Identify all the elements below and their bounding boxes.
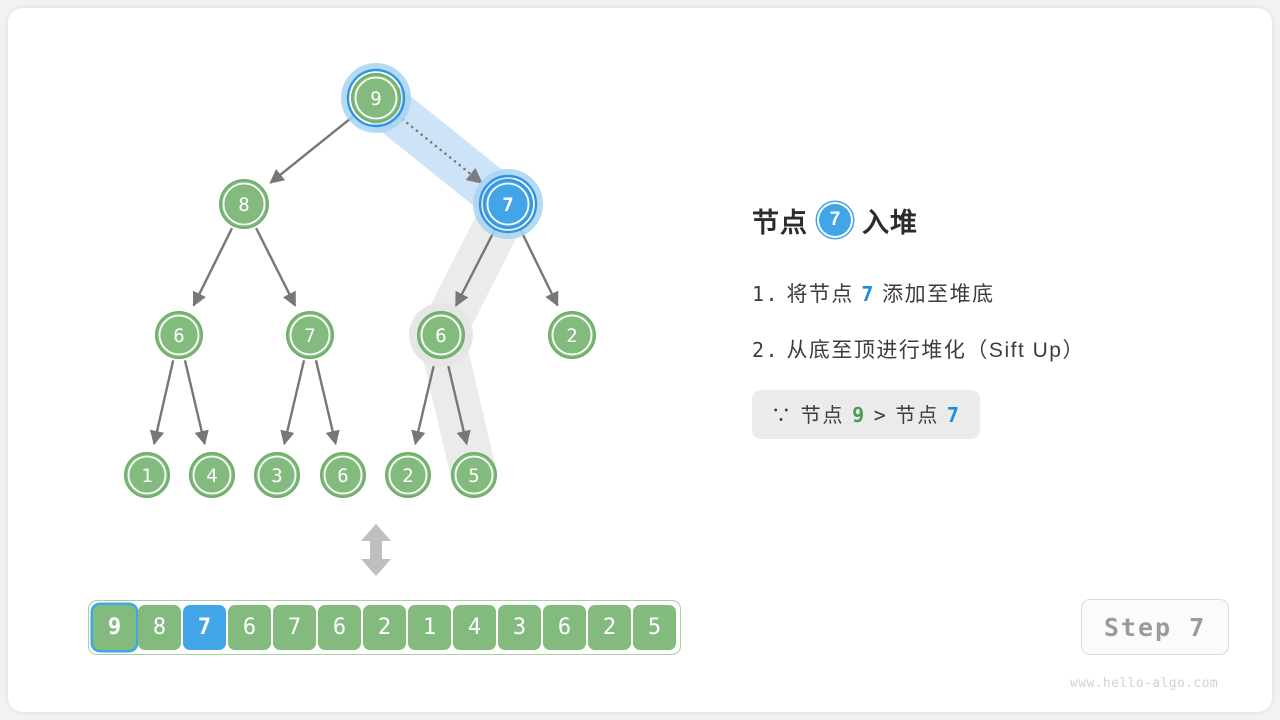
node-label: 6 bbox=[435, 325, 446, 347]
swap-arrow-icon bbox=[361, 524, 391, 576]
info-panel: 节点 7 入堆 1. 将节点 7 添加至堆底 2. 从底至顶进行堆化（Sift … bbox=[752, 196, 1222, 439]
title-prefix: 节点 bbox=[752, 201, 808, 240]
tree-edge bbox=[194, 228, 232, 305]
tree-nodes: 9876762143625 bbox=[125, 66, 595, 497]
tree-node: 7 bbox=[476, 172, 540, 236]
node-label: 9 bbox=[370, 88, 381, 110]
node-label: 7 bbox=[502, 194, 513, 216]
highlight-paths bbox=[376, 98, 508, 475]
node-label: 6 bbox=[337, 465, 348, 487]
array-cell: 4 bbox=[453, 605, 496, 650]
tree-node: 8 bbox=[220, 180, 268, 228]
tree-node: 7 bbox=[287, 312, 333, 358]
node-label: 3 bbox=[271, 465, 282, 487]
array-representation: 9876762143625 bbox=[88, 600, 681, 655]
array-cell: 5 bbox=[633, 605, 676, 650]
array-cell: 7 bbox=[183, 605, 226, 650]
array-cell: 6 bbox=[318, 605, 361, 650]
tree-edge bbox=[520, 228, 558, 305]
comparison-note: ∵ 节点 9 > 节点 7 bbox=[752, 390, 980, 439]
step-2-index: 2. bbox=[752, 338, 779, 362]
array-cell: 8 bbox=[138, 605, 181, 650]
tree-node: 5 bbox=[452, 453, 496, 497]
step-1-post: 添加至堆底 bbox=[882, 283, 995, 306]
tree-node: 3 bbox=[255, 453, 299, 497]
tree-edge bbox=[185, 360, 205, 444]
tree-node: 4 bbox=[190, 453, 234, 497]
node-label: 7 bbox=[304, 325, 315, 347]
page-title: 节点 7 入堆 bbox=[752, 196, 1222, 244]
array-cell: 9 bbox=[93, 605, 136, 650]
node-label: 2 bbox=[566, 325, 577, 347]
note-right-value: 7 bbox=[947, 403, 961, 427]
tree-node: 6 bbox=[409, 303, 473, 367]
tree-edge bbox=[415, 360, 435, 444]
tree-edge bbox=[256, 228, 295, 305]
step-1-value: 7 bbox=[861, 282, 875, 306]
watermark: www.hello-algo.com bbox=[1070, 676, 1218, 691]
array-cell: 2 bbox=[588, 605, 631, 650]
note-left-value: 9 bbox=[852, 403, 866, 427]
tree-edge bbox=[316, 360, 336, 444]
tree-node: 2 bbox=[386, 453, 430, 497]
node-label: 4 bbox=[206, 465, 217, 487]
note-operator: > bbox=[874, 403, 888, 427]
tree-node: 9 bbox=[344, 66, 408, 130]
array-cell: 7 bbox=[273, 605, 316, 650]
node-label: 6 bbox=[173, 325, 184, 347]
because-symbol: ∵ bbox=[771, 405, 793, 427]
node-label: 5 bbox=[468, 465, 479, 487]
screenshot-root: 9876762143625 节点 7 入堆 1. 将节点 7 添加至堆底 2. … bbox=[0, 0, 1280, 720]
node-label: 8 bbox=[238, 194, 249, 216]
highlight-path-blue bbox=[376, 98, 508, 204]
array-cell: 3 bbox=[498, 605, 541, 650]
title-node-badge: 7 bbox=[817, 202, 853, 238]
array-cell: 6 bbox=[228, 605, 271, 650]
tree-edge bbox=[284, 360, 304, 444]
note-left-label: 节点 bbox=[801, 405, 845, 427]
tree-node: 2 bbox=[549, 312, 595, 358]
node-label: 2 bbox=[402, 465, 413, 487]
title-suffix: 入堆 bbox=[862, 201, 918, 240]
array-cell: 6 bbox=[543, 605, 586, 650]
tree-edges bbox=[154, 115, 557, 444]
tree-edge bbox=[271, 115, 355, 183]
step-badge: Step 7 bbox=[1081, 599, 1229, 655]
swap-double-arrow-icon bbox=[361, 524, 391, 576]
node-label: 1 bbox=[141, 465, 152, 487]
tree-node: 6 bbox=[321, 453, 365, 497]
note-right-label: 节点 bbox=[895, 405, 939, 427]
step-2-line: 2. 从底至顶进行堆化（Sift Up） bbox=[752, 334, 1222, 364]
tree-edge bbox=[154, 360, 173, 443]
step-2-pre: 从底至顶进行堆化（Sift Up） bbox=[786, 339, 1085, 362]
step-1-pre: 将节点 bbox=[786, 283, 854, 306]
step-1-line: 1. 将节点 7 添加至堆底 bbox=[752, 278, 1222, 308]
array-cell: 2 bbox=[363, 605, 406, 650]
array-cell: 1 bbox=[408, 605, 451, 650]
tree-node: 6 bbox=[156, 312, 202, 358]
tree-node: 1 bbox=[125, 453, 169, 497]
step-1-index: 1. bbox=[752, 282, 779, 306]
